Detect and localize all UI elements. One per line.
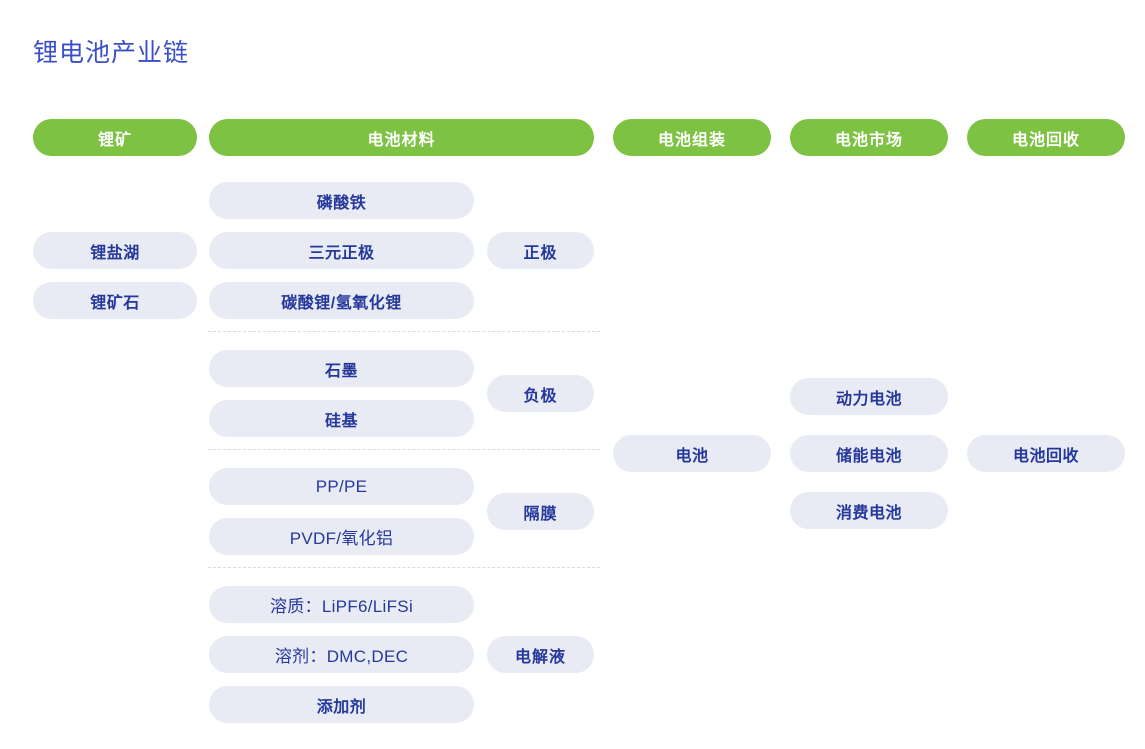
list-item-graphite[interactable]: 石墨 [209, 350, 474, 387]
list-item-silicon-based[interactable]: 硅基 [209, 400, 474, 437]
list-item-lithium-ore[interactable]: 锂矿石 [33, 282, 197, 319]
list-item-pp-pe[interactable]: PP/PE [209, 468, 474, 505]
stage-header-battery-recycling[interactable]: 电池回收 [967, 119, 1125, 156]
group-label-cathode[interactable]: 正极 [487, 232, 594, 269]
group-label-separator[interactable]: 隔膜 [487, 493, 594, 530]
list-item-solute[interactable]: 溶质：LiPF6/LiFSi [209, 586, 474, 623]
list-item-battery-recycling[interactable]: 电池回收 [967, 435, 1125, 472]
list-item-iron-phosphate[interactable]: 磷酸铁 [209, 182, 474, 219]
page-title: 锂电池产业链 [33, 36, 189, 70]
list-item-solvent[interactable]: 溶剂：DMC,DEC [209, 636, 474, 673]
group-label-electrolyte[interactable]: 电解液 [487, 636, 594, 673]
list-item-battery-cell[interactable]: 电池 [613, 435, 771, 472]
stage-header-battery-materials[interactable]: 电池材料 [209, 119, 594, 156]
divider-cathode-anode [208, 331, 600, 332]
list-item-energy-storage-battery[interactable]: 储能电池 [790, 435, 948, 472]
lithium-battery-industry-chain-diagram: 锂电池产业链 锂矿 电池材料 电池组装 电池市场 电池回收 锂盐湖 锂矿石 磷酸… [0, 0, 1145, 749]
list-item-additive[interactable]: 添加剂 [209, 686, 474, 723]
list-item-ternary-cathode[interactable]: 三元正极 [209, 232, 474, 269]
divider-separator-electrolyte [208, 567, 600, 568]
list-item-lithium-salt-lake[interactable]: 锂盐湖 [33, 232, 197, 269]
list-item-pvdf-alumina[interactable]: PVDF/氧化铝 [209, 518, 474, 555]
stage-header-lithium-mining[interactable]: 锂矿 [33, 119, 197, 156]
list-item-consumer-battery[interactable]: 消费电池 [790, 492, 948, 529]
list-item-lithium-carbonate-hydroxide[interactable]: 碳酸锂/氢氧化锂 [209, 282, 474, 319]
stage-header-battery-market[interactable]: 电池市场 [790, 119, 948, 156]
list-item-power-battery[interactable]: 动力电池 [790, 378, 948, 415]
divider-anode-separator [208, 449, 600, 450]
stage-header-battery-assembly[interactable]: 电池组装 [613, 119, 771, 156]
group-label-anode[interactable]: 负极 [487, 375, 594, 412]
